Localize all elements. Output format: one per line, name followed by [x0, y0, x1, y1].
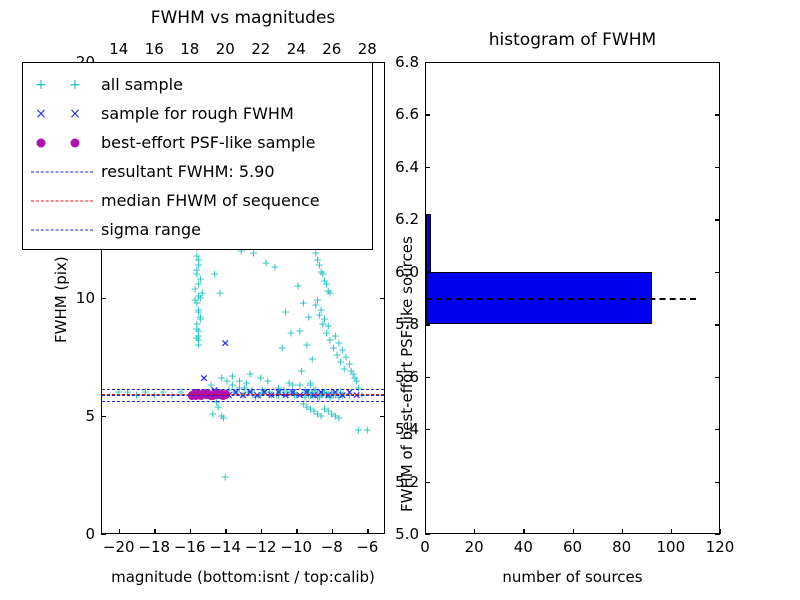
- histogram-yticklabel: 6.4: [377, 158, 419, 176]
- histogram-yticklabel: 5.8: [377, 315, 419, 333]
- scatter-yticklabel: 5: [59, 407, 95, 425]
- scatter-top-xticklabel: 20: [207, 40, 243, 58]
- reference-line-resultant-fwhm: [102, 395, 384, 396]
- scatter-xtick: [296, 529, 297, 534]
- histogram-xtick: [720, 529, 721, 534]
- legend-label: sample for rough FWHM: [101, 104, 294, 123]
- histogram-xtick: [573, 529, 574, 534]
- circle-icon: [71, 138, 80, 147]
- scatter-title: FWHM vs magnitudes: [101, 8, 385, 28]
- legend-label: resultant FWHM: 5.90: [101, 162, 275, 181]
- reference-line-sigma-lower: [102, 401, 384, 402]
- figure-canvas: FWHM vs magnitudes magnitude (bottom:isn…: [0, 0, 800, 600]
- histogram-ytick-right: [715, 429, 720, 430]
- histogram-yticklabel: 6.0: [377, 263, 419, 281]
- histogram-ytick: [425, 534, 430, 535]
- scatter-yticklabel: 10: [59, 289, 95, 307]
- histogram-yticklabel: 6.6: [377, 105, 419, 123]
- histogram-yticklabel: 5.0: [377, 525, 419, 543]
- histogram-ytick-right: [715, 167, 720, 168]
- reference-line-median-fhwm: [102, 394, 384, 395]
- histogram-ytick: [425, 429, 430, 430]
- scatter-ytick-right: [380, 298, 385, 299]
- histogram-ytick-right: [715, 324, 720, 325]
- scatter-ytick: [101, 298, 106, 299]
- histogram-bar: [426, 214, 431, 272]
- scatter-top-xticklabel: 24: [278, 40, 314, 58]
- scatter-xtick: [332, 529, 333, 534]
- dashed-line-icon: [31, 171, 93, 172]
- scatter-top-xticklabel: 18: [172, 40, 208, 58]
- histogram-xticklabel: 100: [651, 538, 691, 556]
- plus-icon: +: [69, 79, 81, 91]
- histogram-xtick: [622, 529, 623, 534]
- histogram-ytick: [425, 114, 430, 115]
- legend-box: ++all sample××sample for rough FWHMbest-…: [22, 62, 373, 250]
- histogram-yticklabel: 5.2: [377, 473, 419, 491]
- cross-icon: ×: [35, 108, 47, 120]
- scatter-xtick: [154, 529, 155, 534]
- histogram-xticklabel: 20: [454, 538, 494, 556]
- scatter-ytick: [101, 534, 106, 535]
- histogram-ytick: [425, 377, 430, 378]
- legend-item-1: ××sample for rough FWHM: [23, 99, 374, 128]
- scatter-xtick: [190, 529, 191, 534]
- histogram-yticklabel: 5.4: [377, 420, 419, 438]
- plus-icon: +: [35, 79, 47, 91]
- legend-label: best-effort PSF-like sample: [101, 133, 315, 152]
- histogram-xticklabel: 60: [553, 538, 593, 556]
- scatter-xtick: [261, 529, 262, 534]
- histogram-xticklabel: 80: [602, 538, 642, 556]
- scatter-yticklabel: 0: [59, 525, 95, 543]
- legend-item-5: sigma range: [23, 215, 374, 244]
- histogram-xaxis-label: number of sources: [425, 568, 720, 586]
- histogram-median-line: [426, 298, 696, 300]
- scatter-top-xticklabel: 22: [243, 40, 279, 58]
- circle-icon: [37, 138, 46, 147]
- legend-label: all sample: [101, 75, 183, 94]
- scatter-ytick: [101, 416, 106, 417]
- scatter-xtick: [367, 529, 368, 534]
- histogram-ytick: [425, 482, 430, 483]
- histogram-ytick-right: [715, 62, 720, 63]
- scatter-xaxis-label: magnitude (bottom:isnt / top:calib): [61, 568, 425, 586]
- histogram-yticklabel: 6.2: [377, 210, 419, 228]
- histogram-ytick: [425, 324, 430, 325]
- histogram-ytick-right: [715, 482, 720, 483]
- histogram-xtick: [523, 529, 524, 534]
- legend-item-0: ++all sample: [23, 70, 374, 99]
- legend-label: median FHWM of sequence: [101, 191, 320, 210]
- histogram-ytick-right: [715, 534, 720, 535]
- scatter-top-xticklabel: 14: [101, 40, 137, 58]
- cross-icon: ×: [69, 108, 81, 120]
- histogram-xticklabel: 40: [503, 538, 543, 556]
- histogram-xtick: [474, 529, 475, 534]
- scatter-xtick: [225, 529, 226, 534]
- dashdot-line-icon: [31, 229, 93, 230]
- legend-label: sigma range: [101, 220, 201, 239]
- scatter-xtick: [119, 529, 120, 534]
- legend-item-4: median FHWM of sequence: [23, 186, 374, 215]
- histogram-xtick: [671, 529, 672, 534]
- legend-item-2: best-effort PSF-like sample: [23, 128, 374, 157]
- histogram-ytick: [425, 62, 430, 63]
- histogram-ytick-right: [715, 219, 720, 220]
- histogram-title: histogram of FWHM: [425, 30, 720, 50]
- legend-item-3: resultant FWHM: 5.90: [23, 157, 374, 186]
- scatter-top-xticklabel: 26: [314, 40, 350, 58]
- dashed-line-icon: [31, 200, 93, 201]
- histogram-ytick-right: [715, 272, 720, 273]
- reference-line-sigma-upper: [102, 389, 384, 390]
- histogram-ytick-right: [715, 377, 720, 378]
- histogram-ytick: [425, 167, 430, 168]
- histogram-ytick-right: [715, 114, 720, 115]
- histogram-xticklabel: 120: [700, 538, 740, 556]
- scatter-ytick-right: [380, 416, 385, 417]
- histogram-yticklabel: 5.6: [377, 368, 419, 386]
- scatter-top-xticklabel: 16: [136, 40, 172, 58]
- histogram-yticklabel: 6.8: [377, 53, 419, 71]
